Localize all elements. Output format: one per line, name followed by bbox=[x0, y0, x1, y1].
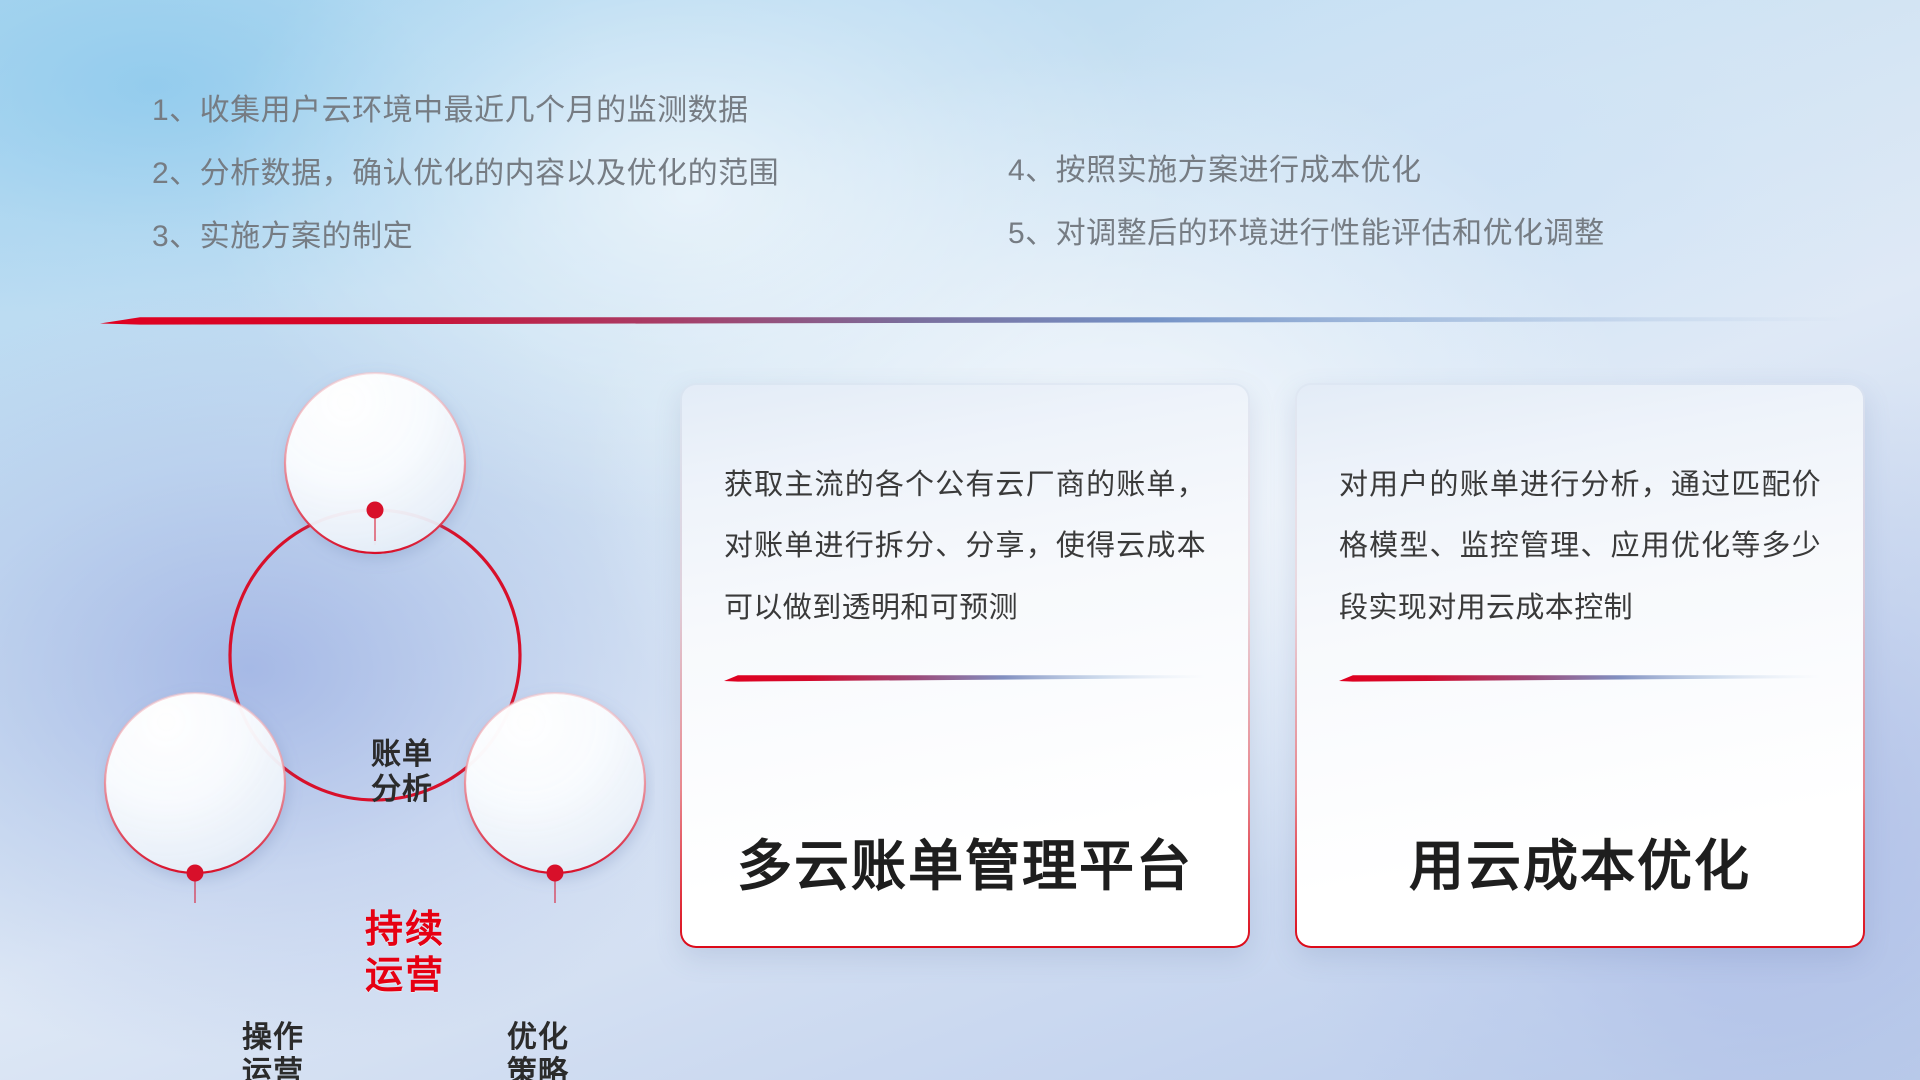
step-item-3: 3、实施方案的制定 bbox=[152, 222, 779, 252]
diagram-node-billing-analysis: 账单 分析 bbox=[317, 737, 487, 808]
step-item-5: 5、对调整后的环境进行性能评估和优化调整 bbox=[1008, 219, 1605, 249]
continuous-operation-diagram: 账单 分析 操作 运营 优化 策略 持续 运营 bbox=[95, 345, 655, 965]
card-inner: 对用户的账单进行分析，通过匹配价格模型、监控管理、应用优化等多少段实现对用云成本… bbox=[1297, 385, 1863, 946]
step-item-4: 4、按照实施方案进行成本优化 bbox=[1008, 156, 1605, 186]
card-accent-rule bbox=[724, 673, 1206, 682]
feature-card-multi-cloud-billing-platform[interactable]: 获取主流的各个公有云厂商的账单，对账单进行拆分、分享，使得云成本可以做到透明和可… bbox=[680, 383, 1250, 948]
step-item-1: 1、收集用户云环境中最近几个月的监测数据 bbox=[152, 96, 779, 126]
diagram-node-operation: 操作 运营 bbox=[188, 1020, 358, 1080]
step-item-2: 2、分析数据，确认优化的内容以及优化的范围 bbox=[152, 159, 779, 189]
card-description: 获取主流的各个公有云厂商的账单，对账单进行拆分、分享，使得云成本可以做到透明和可… bbox=[724, 455, 1206, 639]
card-description: 对用户的账单进行分析，通过匹配价格模型、监控管理、应用优化等多少段实现对用云成本… bbox=[1339, 455, 1821, 639]
section-divider bbox=[100, 312, 1860, 326]
slide-canvas: 1、收集用户云环境中最近几个月的监测数据 2、分析数据，确认优化的内容以及优化的… bbox=[0, 0, 1920, 1080]
diagram-node-optimization-policy: 优化 策略 bbox=[453, 1020, 623, 1080]
steps-left-column: 1、收集用户云环境中最近几个月的监测数据 2、分析数据，确认优化的内容以及优化的… bbox=[152, 96, 779, 252]
feature-card-cloud-cost-optimization[interactable]: 对用户的账单进行分析，通过匹配价格模型、监控管理、应用优化等多少段实现对用云成本… bbox=[1295, 383, 1865, 948]
card-title: 用云成本优化 bbox=[1339, 836, 1821, 897]
card-accent-rule bbox=[1339, 673, 1821, 682]
card-title: 多云账单管理平台 bbox=[724, 836, 1206, 897]
diagram-center-label: 持续 运营 bbox=[305, 907, 505, 1000]
steps-right-column: 4、按照实施方案进行成本优化 5、对调整后的环境进行性能评估和优化调整 bbox=[1008, 156, 1605, 249]
card-inner: 获取主流的各个公有云厂商的账单，对账单进行拆分、分享，使得云成本可以做到透明和可… bbox=[682, 385, 1248, 946]
